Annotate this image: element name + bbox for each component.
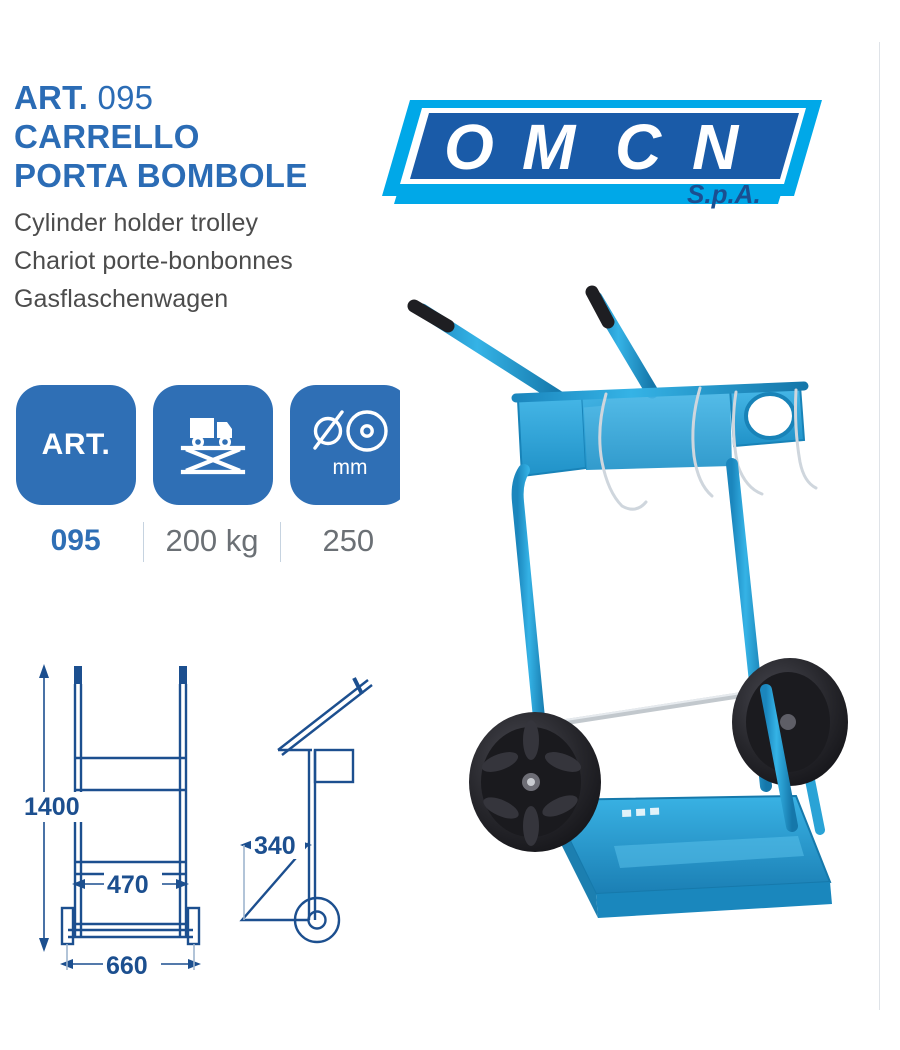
side-wheel-hub bbox=[309, 912, 326, 929]
page-title-line2: PORTA BOMBOLE bbox=[14, 156, 404, 195]
front-grip-left bbox=[74, 666, 82, 684]
clamp-left-bracket bbox=[518, 392, 586, 476]
omcn-logo: O M C N S.p.A. bbox=[382, 92, 822, 220]
logo-letter-c: C bbox=[615, 111, 662, 183]
spec-value-capacity: 200 kg bbox=[152, 519, 271, 563]
spec-badge-row: ART. bbox=[16, 385, 408, 505]
front-grip-right bbox=[179, 666, 187, 684]
article-prefix: ART. bbox=[14, 79, 88, 116]
spec-value-row: 095 200 kg 250 bbox=[16, 519, 408, 563]
spec-table: ART. bbox=[16, 385, 408, 563]
page-right-divider bbox=[879, 42, 880, 1010]
product-datasheet-page: ART. 095 CARRELLO PORTA BOMBOLE Cylinder… bbox=[0, 0, 900, 1050]
front-wheel-left bbox=[62, 908, 73, 944]
wheel-right-hub bbox=[780, 714, 796, 730]
subtitle-list: Cylinder holder trolley Chariot porte-bo… bbox=[14, 204, 404, 318]
dimension-inner-width-label: 470 bbox=[107, 871, 149, 899]
page-title-line1: CARRELLO bbox=[14, 117, 404, 156]
dimension-outer-width-label: 660 bbox=[106, 952, 148, 980]
diameter-wheel-icon: mm bbox=[307, 404, 393, 486]
logo-letter-m: M bbox=[522, 111, 577, 183]
diameter-unit-label: mm bbox=[333, 456, 368, 479]
art-label-icon: ART. bbox=[42, 428, 111, 462]
logo-letter-n: N bbox=[692, 111, 740, 183]
side-retainer-box bbox=[315, 750, 353, 782]
wheel-left bbox=[469, 712, 601, 852]
side-view bbox=[242, 678, 372, 942]
truck-on-scissor-lift-icon bbox=[174, 406, 252, 484]
wheel-right bbox=[732, 658, 848, 786]
spec-value-wheel-diameter: 250 bbox=[289, 519, 408, 563]
badge-capacity bbox=[153, 385, 273, 505]
front-wheel-right bbox=[188, 908, 199, 944]
clamp-hole bbox=[746, 394, 794, 438]
technical-drawing: 1400 470 660 340 bbox=[20, 652, 390, 982]
dimension-height-label: 1400 bbox=[24, 793, 80, 821]
logo-letter-o: O bbox=[444, 111, 494, 183]
dimension-depth-label: 340 bbox=[254, 832, 296, 860]
article-line: ART. 095 bbox=[14, 78, 404, 117]
subtitle-fr: Chariot porte-bonbonnes bbox=[14, 242, 404, 280]
spec-value-article: 095 bbox=[16, 519, 135, 563]
product-photo bbox=[400, 270, 870, 970]
article-number: 095 bbox=[98, 79, 154, 116]
heading-block: ART. 095 CARRELLO PORTA BOMBOLE Cylinder… bbox=[14, 78, 404, 318]
badge-article: ART. bbox=[16, 385, 136, 505]
subtitle-en: Cylinder holder trolley bbox=[14, 204, 404, 242]
dimension-labels: 1400 470 660 340 bbox=[22, 792, 305, 980]
badge-wheel-diameter: mm bbox=[290, 385, 410, 505]
subtitle-de: Gasflaschenwagen bbox=[14, 280, 404, 318]
logo-suffix: S.p.A. bbox=[687, 179, 761, 209]
